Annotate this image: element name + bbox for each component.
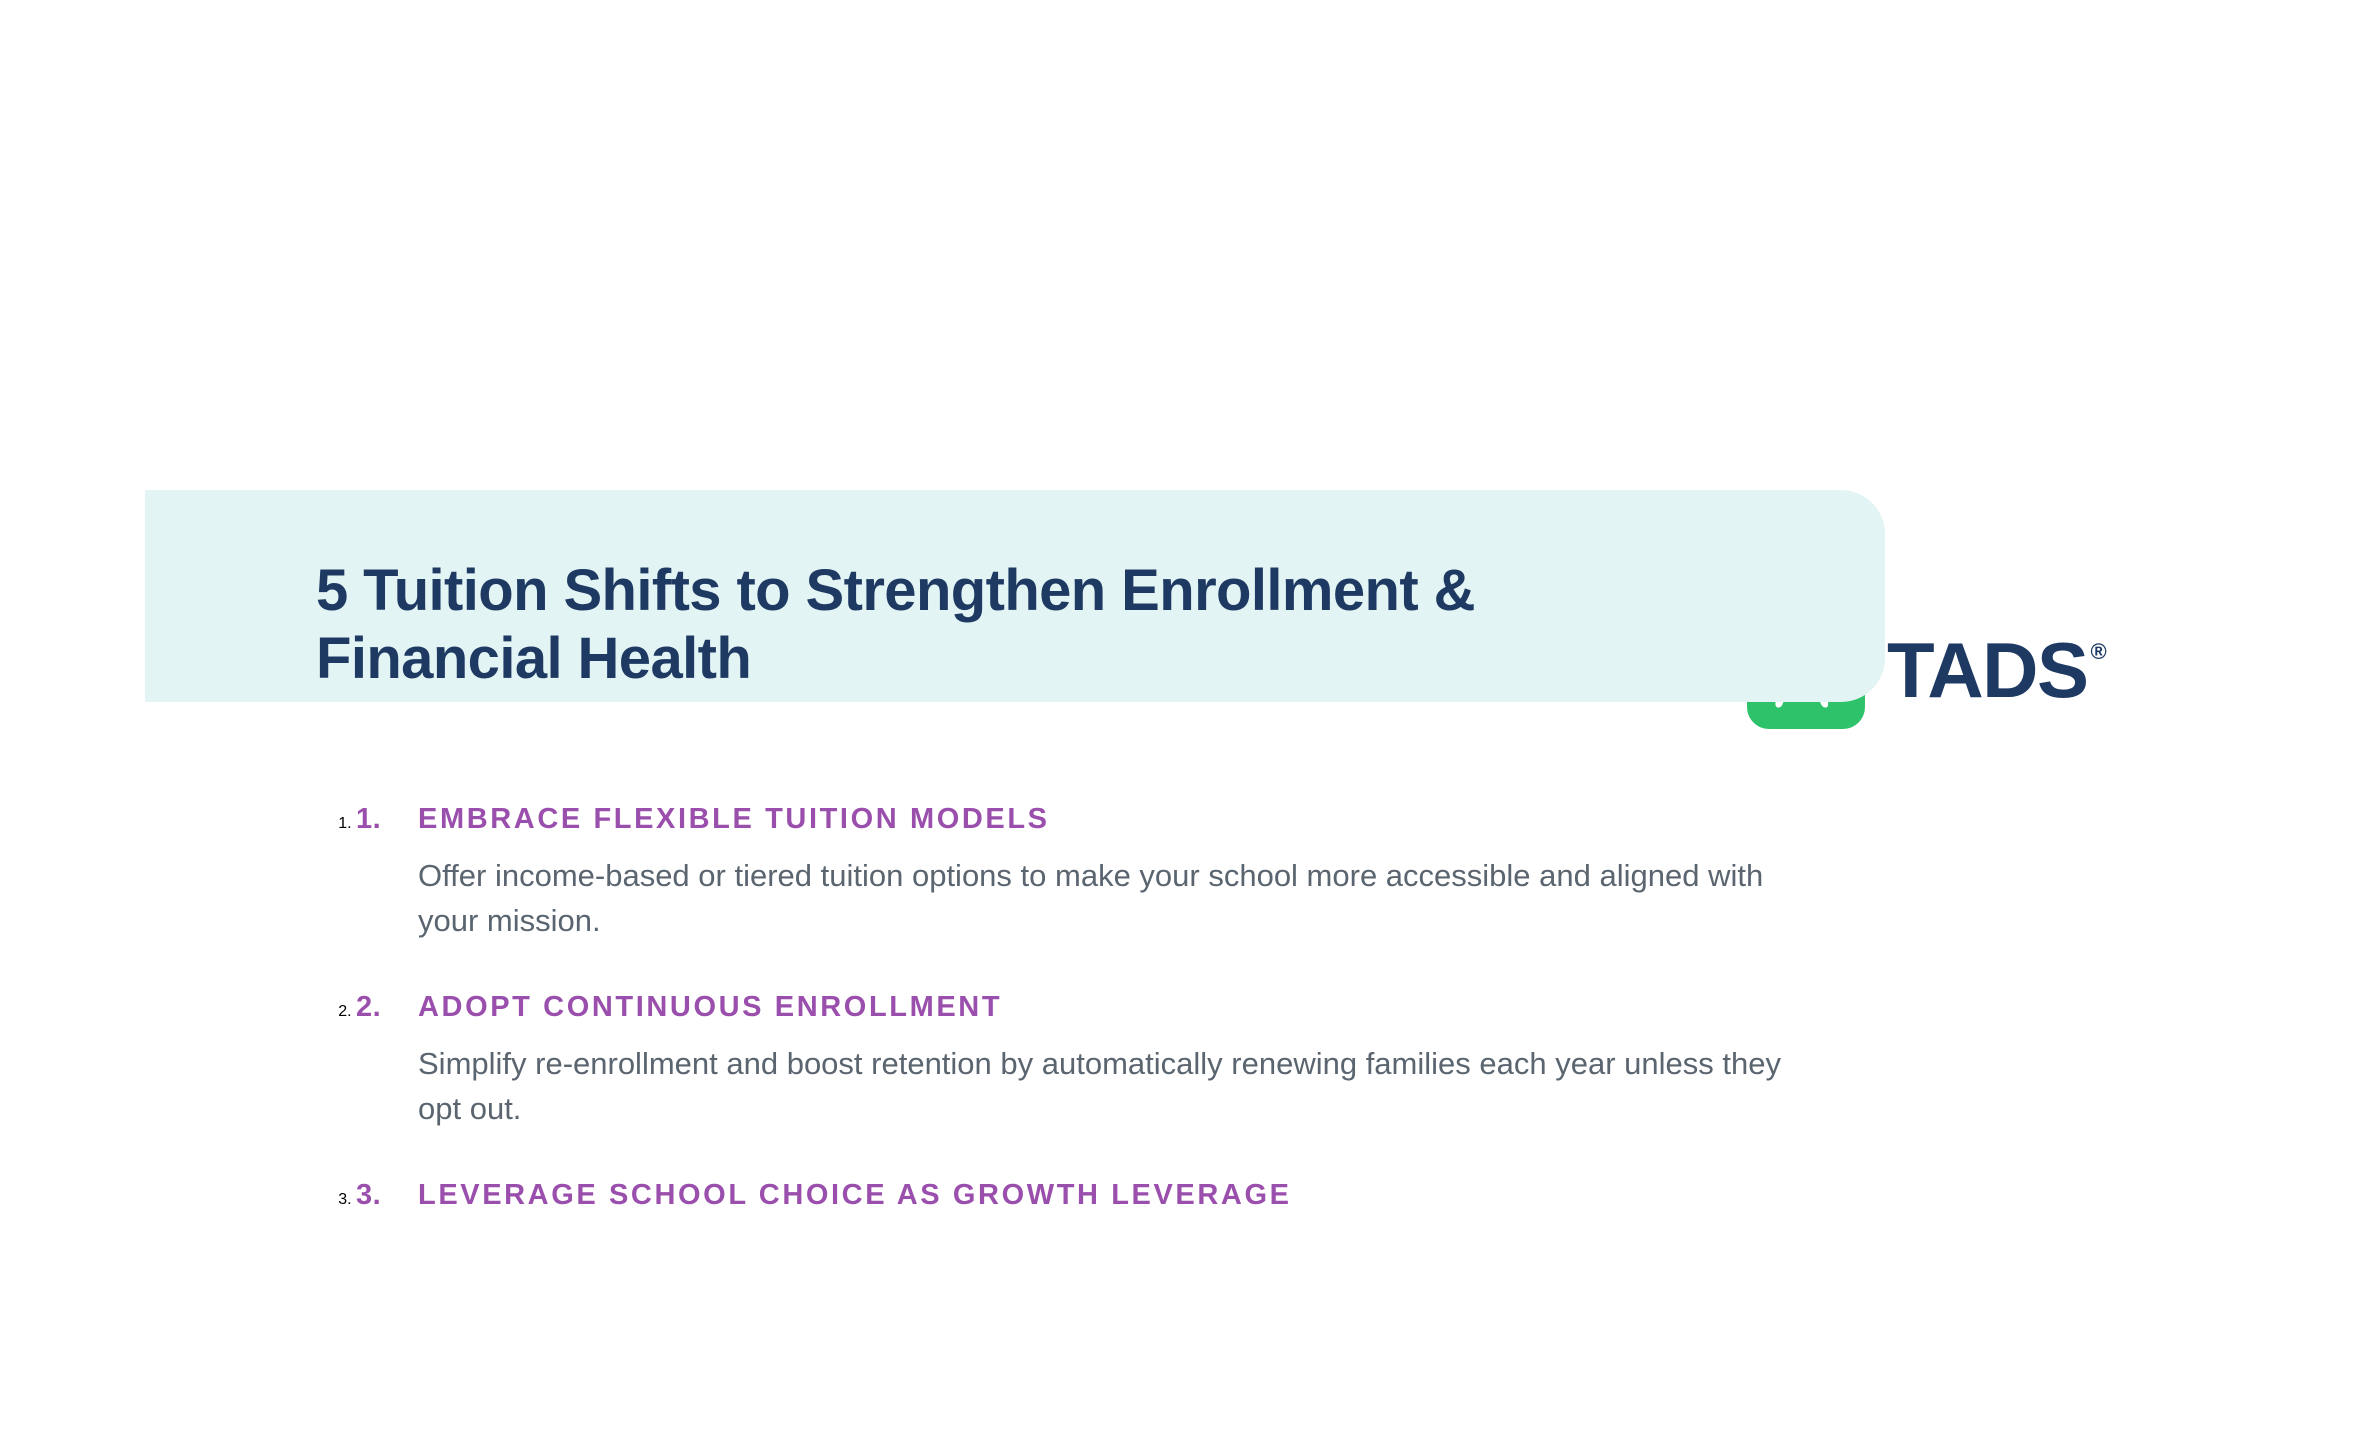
list-item: 2. ADOPT CONTINUOUS ENROLLMENT Simplify …	[356, 990, 1856, 1132]
tip-heading: 1. EMBRACE FLEXIBLE TUITION MODELS	[356, 802, 1856, 837]
tip-body: Offer income-based or tiered tuition opt…	[418, 853, 1788, 944]
tip-heading: 2. ADOPT CONTINUOUS ENROLLMENT	[356, 990, 1856, 1025]
tip-number: 1.	[356, 803, 418, 836]
tips-list: 1. EMBRACE FLEXIBLE TUITION MODELS Offer…	[316, 802, 1856, 1213]
tip-title: ADOPT CONTINUOUS ENROLLMENT	[418, 990, 1002, 1025]
tip-title: LEVERAGE SCHOOL CHOICE AS GROWTH LEVERAG…	[418, 1178, 1292, 1213]
list-item: 3. LEVERAGE SCHOOL CHOICE AS GROWTH LEVE…	[356, 1178, 1856, 1213]
tip-body: Simplify re-enrollment and boost retenti…	[418, 1041, 1788, 1132]
tip-number: 3.	[356, 1179, 418, 1212]
tip-heading: 3. LEVERAGE SCHOOL CHOICE AS GROWTH LEVE…	[356, 1178, 1856, 1213]
page-title: 5 Tuition Shifts to Strengthen Enrollmen…	[316, 557, 1736, 693]
tip-number: 2.	[356, 991, 418, 1024]
page-canvas: Tips Sheet TADS ®	[0, 0, 2377, 1439]
registered-trademark-icon: ®	[2091, 641, 2107, 663]
tip-title: EMBRACE FLEXIBLE TUITION MODELS	[418, 802, 1050, 837]
list-item: 1. EMBRACE FLEXIBLE TUITION MODELS Offer…	[356, 802, 1856, 944]
document-header: Tips Sheet TADS ®	[0, 300, 2377, 430]
tads-wordmark-text: TADS	[1887, 635, 2088, 705]
tads-wordmark: TADS ®	[1887, 635, 2107, 705]
